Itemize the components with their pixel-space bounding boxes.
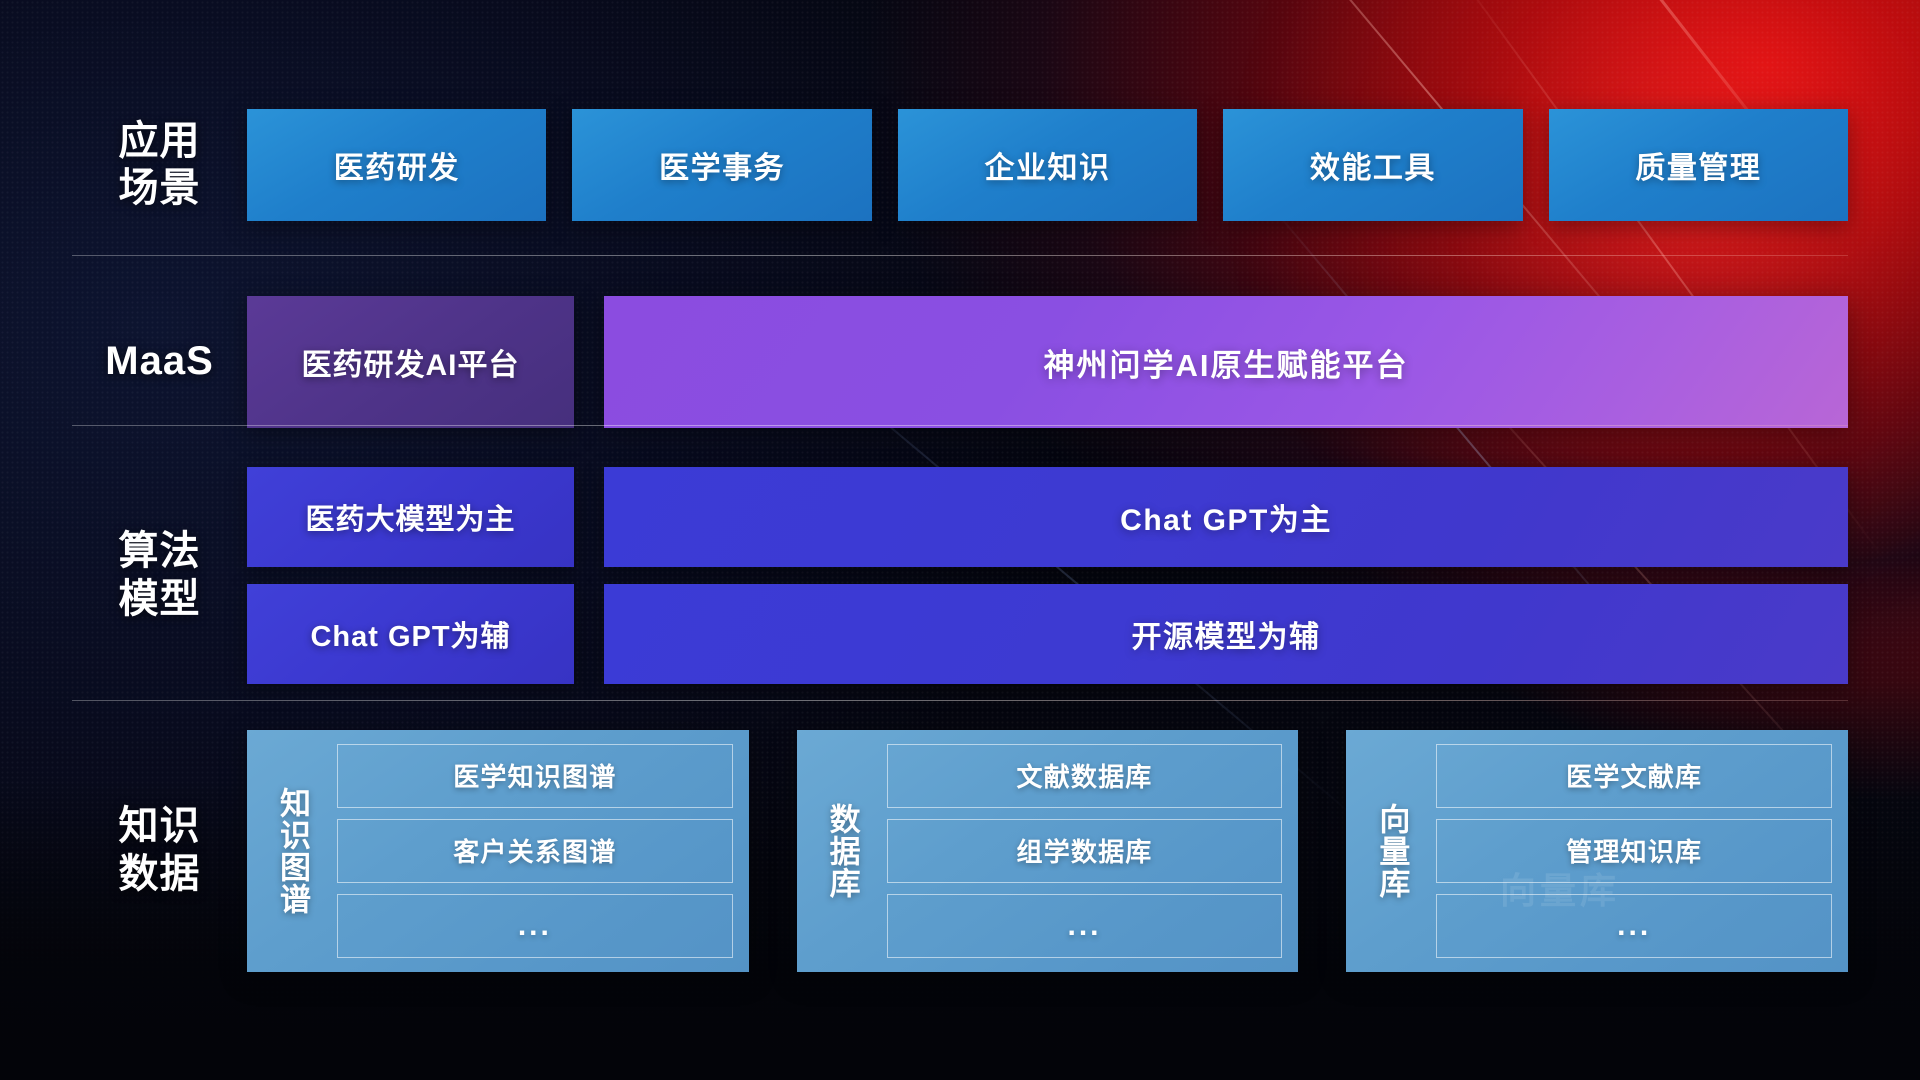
tier-body-algorithm-models: 医药大模型为主 Chat GPT为主 Chat GPT为辅 开源模型为辅 [247,467,1848,684]
tier-knowledge-data: 知识 数据 知识图谱 医学知识图谱 客户关系图谱 ... 数据库 文献数据库 组… [72,728,1848,973]
knowledge-item-customer-relation-graph[interactable]: 客户关系图谱 [337,819,733,883]
knowledge-item-more[interactable]: ... [1436,894,1832,958]
application-boxes-row: 医药研发 医学事务 企业知识 效能工具 质量管理 [247,109,1848,221]
architecture-diagram: 应用 场景 医药研发 医学事务 企业知识 效能工具 质量管理 MaaS 医药研发… [0,0,1920,1080]
knowledge-item-omics-database[interactable]: 组学数据库 [887,819,1283,883]
tier-application-scenarios: 应用 场景 医药研发 医学事务 企业知识 效能工具 质量管理 [72,105,1848,225]
tier-body-application-scenarios: 医药研发 医学事务 企业知识 效能工具 质量管理 [247,109,1848,221]
algo-box-medicine-llm-primary[interactable]: 医药大模型为主 [247,467,574,567]
tier-maas: MaaS 医药研发AI平台 神州问学AI原生赋能平台 [72,292,1848,432]
knowledge-item-medical-literature-store[interactable]: 医学文献库 [1436,744,1832,808]
tier-algorithm-models: 算法 模型 医药大模型为主 Chat GPT为主 Chat GPT为辅 开源模型… [72,458,1848,693]
divider-1 [72,255,1848,256]
tier-body-maas: 医药研发AI平台 神州问学AI原生赋能平台 [247,296,1848,428]
app-box-efficiency-tools[interactable]: 效能工具 [1223,109,1522,221]
knowledge-group-title: 数据库 [811,744,873,958]
divider-2 [72,425,1848,426]
app-box-medicine-rd[interactable]: 医药研发 [247,109,546,221]
algorithm-row-primary: 医药大模型为主 Chat GPT为主 [247,467,1848,567]
knowledge-group-items: 文献数据库 组学数据库 ... [887,744,1283,958]
algo-box-chatgpt-primary[interactable]: Chat GPT为主 [604,467,1848,567]
knowledge-group-knowledge-graph[interactable]: 知识图谱 医学知识图谱 客户关系图谱 ... [247,730,749,972]
tier-label-maas: MaaS [72,338,247,385]
algorithm-row-secondary: Chat GPT为辅 开源模型为辅 [247,584,1848,684]
tier-label-application-scenarios: 应用 场景 [72,118,247,212]
knowledge-group-items: 医学知识图谱 客户关系图谱 ... [337,744,733,958]
knowledge-item-medical-knowledge-graph[interactable]: 医学知识图谱 [337,744,733,808]
tier-body-knowledge-data: 知识图谱 医学知识图谱 客户关系图谱 ... 数据库 文献数据库 组学数据库 .… [247,730,1848,972]
knowledge-item-literature-database[interactable]: 文献数据库 [887,744,1283,808]
knowledge-group-vector-store[interactable]: 向量库 医学文献库 管理知识库 ... [1346,730,1848,972]
algo-box-chatgpt-secondary[interactable]: Chat GPT为辅 [247,584,574,684]
maas-box-shenzhou-wenxue-platform[interactable]: 神州问学AI原生赋能平台 [604,296,1848,428]
tier-label-knowledge-data: 知识 数据 [72,803,247,897]
knowledge-item-more[interactable]: ... [337,894,733,958]
knowledge-groups-row: 知识图谱 医学知识图谱 客户关系图谱 ... 数据库 文献数据库 组学数据库 .… [247,730,1848,972]
knowledge-group-title: 知识图谱 [261,744,323,958]
app-box-medical-affairs[interactable]: 医学事务 [572,109,871,221]
algo-box-opensource-secondary[interactable]: 开源模型为辅 [604,584,1848,684]
knowledge-group-items: 医学文献库 管理知识库 ... [1436,744,1832,958]
app-box-quality-management[interactable]: 质量管理 [1549,109,1848,221]
maas-row: 医药研发AI平台 神州问学AI原生赋能平台 [247,296,1848,428]
app-box-enterprise-knowledge[interactable]: 企业知识 [898,109,1197,221]
knowledge-group-title: 向量库 [1360,744,1422,958]
knowledge-item-management-knowledge-store[interactable]: 管理知识库 [1436,819,1832,883]
tier-label-algorithm-models: 算法 模型 [72,528,247,622]
knowledge-group-database[interactable]: 数据库 文献数据库 组学数据库 ... [797,730,1299,972]
divider-3 [72,700,1848,701]
maas-box-medicine-ai-platform[interactable]: 医药研发AI平台 [247,296,574,428]
knowledge-item-more[interactable]: ... [887,894,1283,958]
